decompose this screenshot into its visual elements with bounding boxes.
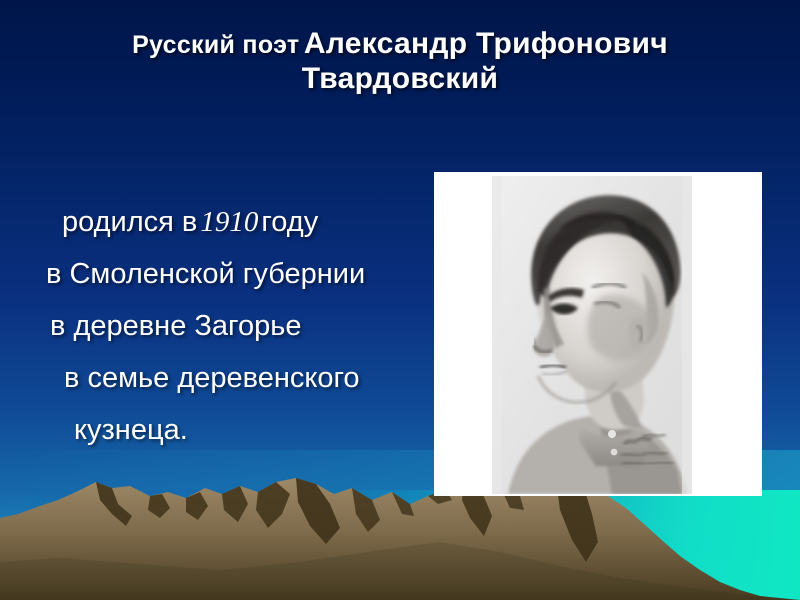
title-lead: Русский поэт: [132, 31, 299, 59]
presentation-slide: Русский поэт Александр Трифонович Твардо…: [0, 0, 800, 600]
body-line-1-suffix: году: [261, 206, 318, 238]
portrait-sketch-svg: [492, 176, 692, 494]
title-name: Александр Трифонович Твардовский: [302, 27, 668, 95]
slide-title: Русский поэт Александр Трифонович Твардо…: [40, 26, 760, 97]
portrait-image: [492, 176, 692, 494]
body-line-1-prefix: родился в: [62, 206, 197, 238]
portrait-frame: [434, 172, 762, 496]
birth-year: 1910: [197, 206, 261, 238]
